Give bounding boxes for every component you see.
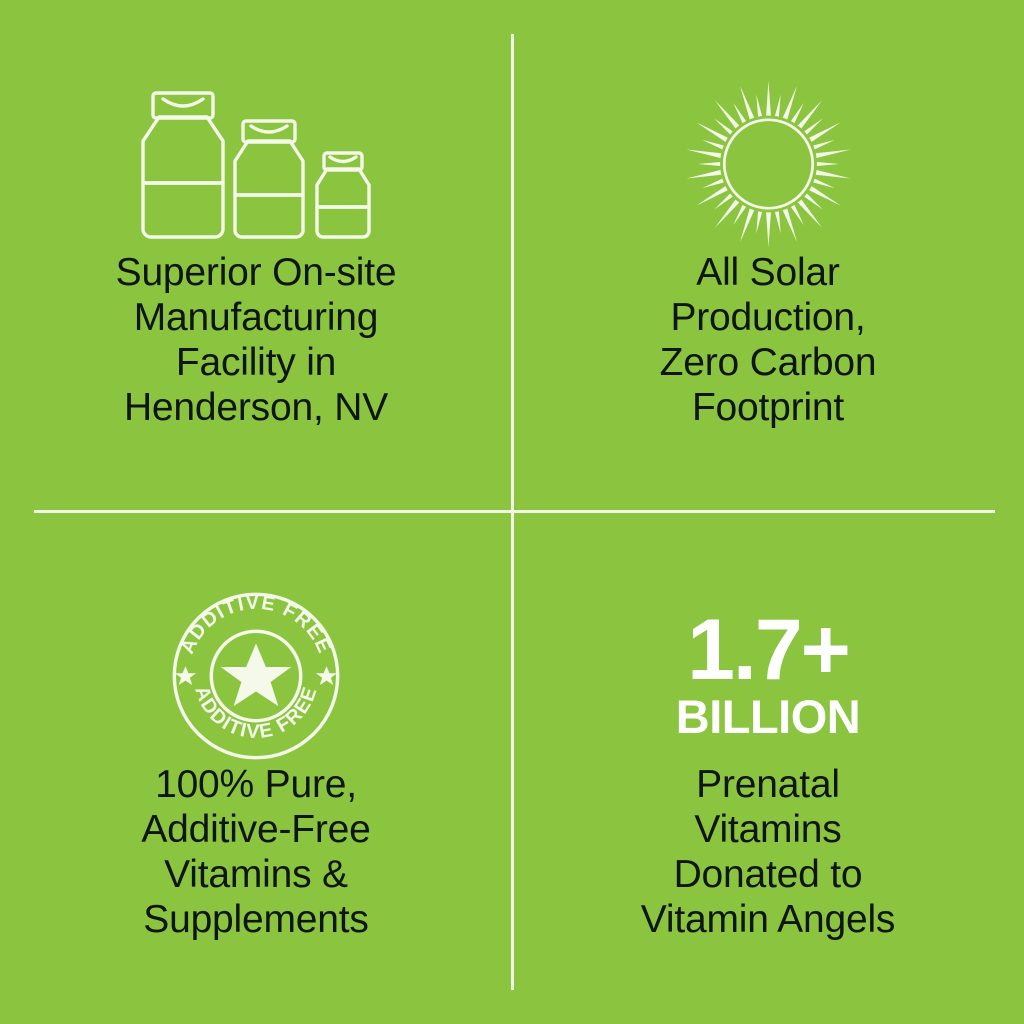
panel-additive-free: ADDITIVE FREE ADDITIVE FREE 100% Pure, A… [0, 512, 512, 1024]
supplement-bottles-icon [131, 79, 381, 249]
donation-stat: 1.7+ BILLION [676, 590, 860, 762]
icon-slot [131, 78, 381, 250]
icon-slot [681, 78, 856, 250]
benefits-infographic: Superior On-site Manufacturing Facility … [0, 0, 1024, 1024]
icon-slot: ADDITIVE FREE ADDITIVE FREE [170, 590, 342, 762]
additive-free-badge-icon: ADDITIVE FREE ADDITIVE FREE [170, 590, 342, 762]
svg-text:ADDITIVE FREE: ADDITIVE FREE [190, 683, 322, 743]
panel-caption: Prenatal Vitamins Donated to Vitamin Ang… [615, 762, 921, 942]
sun-icon [681, 79, 856, 249]
stat-value: 1.7+ [687, 610, 849, 690]
panel-manufacturing: Superior On-site Manufacturing Facility … [0, 0, 512, 512]
panel-caption: 100% Pure, Additive-Free Vitamins & Supp… [115, 762, 396, 942]
panel-caption: Superior On-site Manufacturing Facility … [90, 250, 423, 430]
stat-unit: BILLION [676, 692, 860, 742]
badge-bottom-arc-text: ADDITIVE FREE [190, 683, 322, 743]
panel-donations: 1.7+ BILLION Prenatal Vitamins Donated t… [512, 512, 1024, 1024]
panel-solar: All Solar Production, Zero Carbon Footpr… [512, 0, 1024, 512]
panel-caption: All Solar Production, Zero Carbon Footpr… [634, 250, 903, 430]
